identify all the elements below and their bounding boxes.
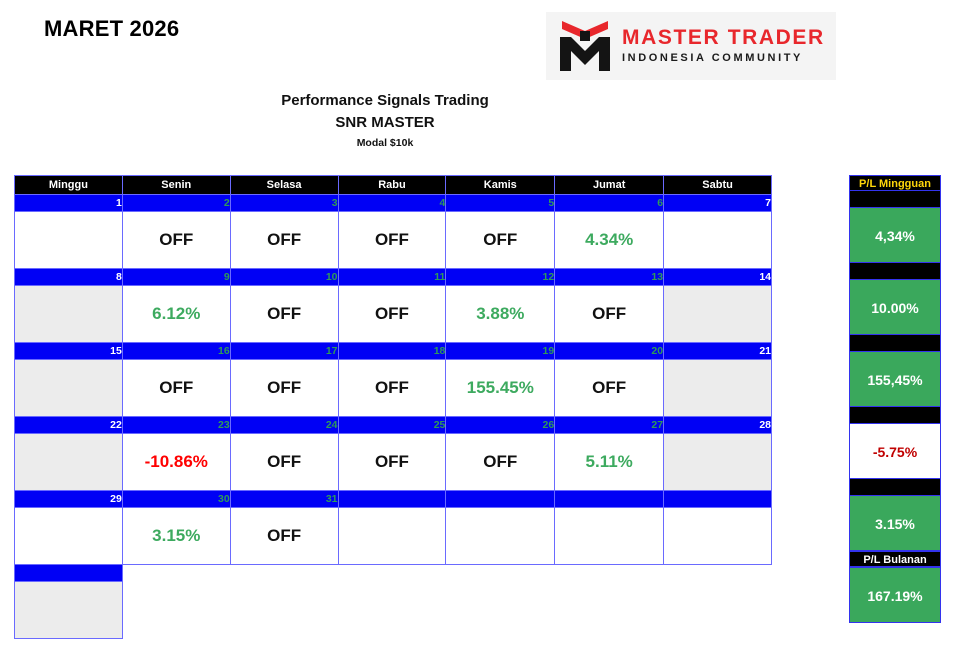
logo-wordmark: MASTER TRADER INDONESIA COMMUNITY	[622, 27, 825, 64]
calendar-date-row	[15, 565, 772, 582]
calendar-date-number: 15	[15, 343, 123, 360]
pl-weekly-value: 10.00%	[849, 279, 941, 335]
calendar-day-header: Minggu	[15, 176, 123, 195]
calendar-day-cell[interactable]: OFF	[446, 434, 555, 491]
calendar-date-row: 22232425262728	[15, 417, 772, 434]
calendar-date-number	[338, 491, 446, 508]
capital-heading: Modal $10k	[0, 137, 770, 149]
calendar-day-cell[interactable]: OFF	[122, 212, 230, 269]
calendar-day-cell[interactable]	[664, 360, 772, 417]
calendar-date-number: 27	[555, 417, 664, 434]
calendar-date-number: 11	[338, 269, 446, 286]
calendar-date-number: 2	[122, 195, 230, 212]
calendar-value-row: 3.15%OFF	[15, 508, 772, 565]
calendar-day-cell[interactable]: OFF	[555, 286, 664, 343]
calendar-day-cell[interactable]: OFF	[230, 360, 338, 417]
calendar-day-cell[interactable]	[15, 434, 123, 491]
pl-weekly-value: 4,34%	[849, 207, 941, 263]
calendar-date-number: 23	[122, 417, 230, 434]
page-title: MARET 2026	[44, 16, 179, 42]
calendar-day-cell[interactable]	[664, 434, 772, 491]
pl-row-separator	[849, 263, 941, 279]
performance-calendar: MingguSeninSelasaRabuKamisJumatSabtu 123…	[14, 175, 772, 639]
calendar-day-cell[interactable]: OFF	[230, 212, 338, 269]
pl-row-separator	[849, 479, 941, 495]
brand-logo: MASTER TRADER INDONESIA COMMUNITY	[546, 12, 836, 80]
calendar-value-row	[15, 582, 772, 639]
calendar-day-cell[interactable]: 3.15%	[122, 508, 230, 565]
calendar-day-cell[interactable]: 155.45%	[446, 360, 555, 417]
calendar-day-header: Rabu	[338, 176, 446, 195]
calendar-day-cell[interactable]: 4.34%	[555, 212, 664, 269]
calendar-date-number: 28	[664, 417, 772, 434]
calendar-date-number: 20	[555, 343, 664, 360]
logo-subtitle: INDONESIA COMMUNITY	[622, 52, 825, 64]
calendar-day-cell[interactable]	[15, 508, 123, 565]
calendar-date-number: 22	[15, 417, 123, 434]
calendar-day-cell[interactable]: OFF	[230, 286, 338, 343]
calendar-day-cell[interactable]: -10.86%	[122, 434, 230, 491]
calendar-day-header: Kamis	[446, 176, 555, 195]
pl-row-separator	[849, 335, 941, 351]
calendar-date-number: 18	[338, 343, 446, 360]
calendar-date-number: 25	[338, 417, 446, 434]
pl-weekly-label: P/L Mingguan	[849, 175, 941, 191]
calendar-date-number: 30	[122, 491, 230, 508]
pl-summary-panel: P/L Mingguan4,34%10.00%155,45%-5.75%3.15…	[849, 175, 941, 623]
calendar-day-header: Selasa	[230, 176, 338, 195]
calendar-day-cell[interactable]	[338, 508, 446, 565]
calendar-date-row: 891011121314	[15, 269, 772, 286]
calendar-day-cell[interactable]: OFF	[230, 434, 338, 491]
calendar-day-cell[interactable]	[446, 508, 555, 565]
calendar-day-cell[interactable]	[664, 508, 772, 565]
calendar-date-number: 21	[664, 343, 772, 360]
pl-weekly-value: 155,45%	[849, 351, 941, 407]
calendar-date-number: 16	[122, 343, 230, 360]
heading-block: Performance Signals Trading SNR MASTER M…	[0, 90, 770, 149]
calendar-date-number: 17	[230, 343, 338, 360]
calendar-day-header: Senin	[122, 176, 230, 195]
calendar-day-cell[interactable]: 5.11%	[555, 434, 664, 491]
pl-monthly-label: P/L Bulanan	[849, 551, 941, 567]
calendar-day-cell[interactable]: OFF	[338, 286, 446, 343]
strategy-heading: SNR MASTER	[0, 112, 770, 135]
calendar-date-number: 5	[446, 195, 555, 212]
calendar-date-number: 31	[230, 491, 338, 508]
calendar-date-row: 1234567	[15, 195, 772, 212]
calendar-date-number: 7	[664, 195, 772, 212]
calendar-date-number: 9	[122, 269, 230, 286]
logo-name: MASTER TRADER	[622, 27, 825, 49]
calendar-date-number: 24	[230, 417, 338, 434]
calendar-day-cell[interactable]	[15, 360, 123, 417]
calendar-day-cell[interactable]	[664, 212, 772, 269]
calendar-date-number: 19	[446, 343, 555, 360]
calendar-date-number: 12	[446, 269, 555, 286]
calendar-date-number: 6	[555, 195, 664, 212]
calendar-date-number: 13	[555, 269, 664, 286]
master-trader-m-monogram-icon	[554, 17, 616, 75]
performance-heading: Performance Signals Trading	[0, 90, 770, 112]
pl-row-separator	[849, 191, 941, 207]
calendar-day-cell[interactable]: OFF	[555, 360, 664, 417]
calendar-day-cell[interactable]: OFF	[338, 360, 446, 417]
calendar-day-cell[interactable]: OFF	[338, 212, 446, 269]
calendar-date-number	[664, 491, 772, 508]
calendar-value-row: -10.86%OFFOFFOFF5.11%	[15, 434, 772, 491]
calendar-date-number	[446, 491, 555, 508]
calendar-date-number: 26	[446, 417, 555, 434]
calendar-date-number: 4	[338, 195, 446, 212]
calendar-day-cell[interactable]	[15, 286, 123, 343]
calendar-date-row: 293031	[15, 491, 772, 508]
calendar-day-cell[interactable]: OFF	[338, 434, 446, 491]
calendar-date-number: 29	[15, 491, 123, 508]
calendar-day-header: Jumat	[555, 176, 664, 195]
calendar-date-number: 8	[15, 269, 123, 286]
calendar-date-number: 1	[15, 195, 123, 212]
calendar-date-number	[555, 491, 664, 508]
pl-monthly-value: 167.19%	[849, 567, 941, 623]
calendar-day-cell[interactable]	[664, 286, 772, 343]
calendar-date-number	[15, 565, 123, 582]
calendar-day-header: Sabtu	[664, 176, 772, 195]
pl-row-separator	[849, 407, 941, 423]
calendar-day-cell[interactable]	[555, 508, 664, 565]
calendar-day-cell[interactable]: 6.12%	[122, 286, 230, 343]
calendar-date-number: 10	[230, 269, 338, 286]
calendar-day-cell[interactable]: OFF	[446, 212, 555, 269]
calendar-day-cell[interactable]: 3.88%	[446, 286, 555, 343]
calendar-date-row: 15161718192021	[15, 343, 772, 360]
calendar-day-cell[interactable]	[15, 212, 123, 269]
calendar-value-row: 6.12%OFFOFF3.88%OFF	[15, 286, 772, 343]
calendar-value-row: OFFOFFOFF155.45%OFF	[15, 360, 772, 417]
calendar-value-row: OFFOFFOFFOFF4.34%	[15, 212, 772, 269]
calendar-header-row: MingguSeninSelasaRabuKamisJumatSabtu	[15, 176, 772, 195]
pl-weekly-value: -5.75%	[849, 423, 941, 479]
calendar-date-number: 14	[664, 269, 772, 286]
calendar-day-cell[interactable]: OFF	[122, 360, 230, 417]
calendar-day-cell[interactable]	[15, 582, 123, 639]
pl-weekly-value: 3.15%	[849, 495, 941, 551]
calendar-day-cell[interactable]: OFF	[230, 508, 338, 565]
calendar-date-number: 3	[230, 195, 338, 212]
